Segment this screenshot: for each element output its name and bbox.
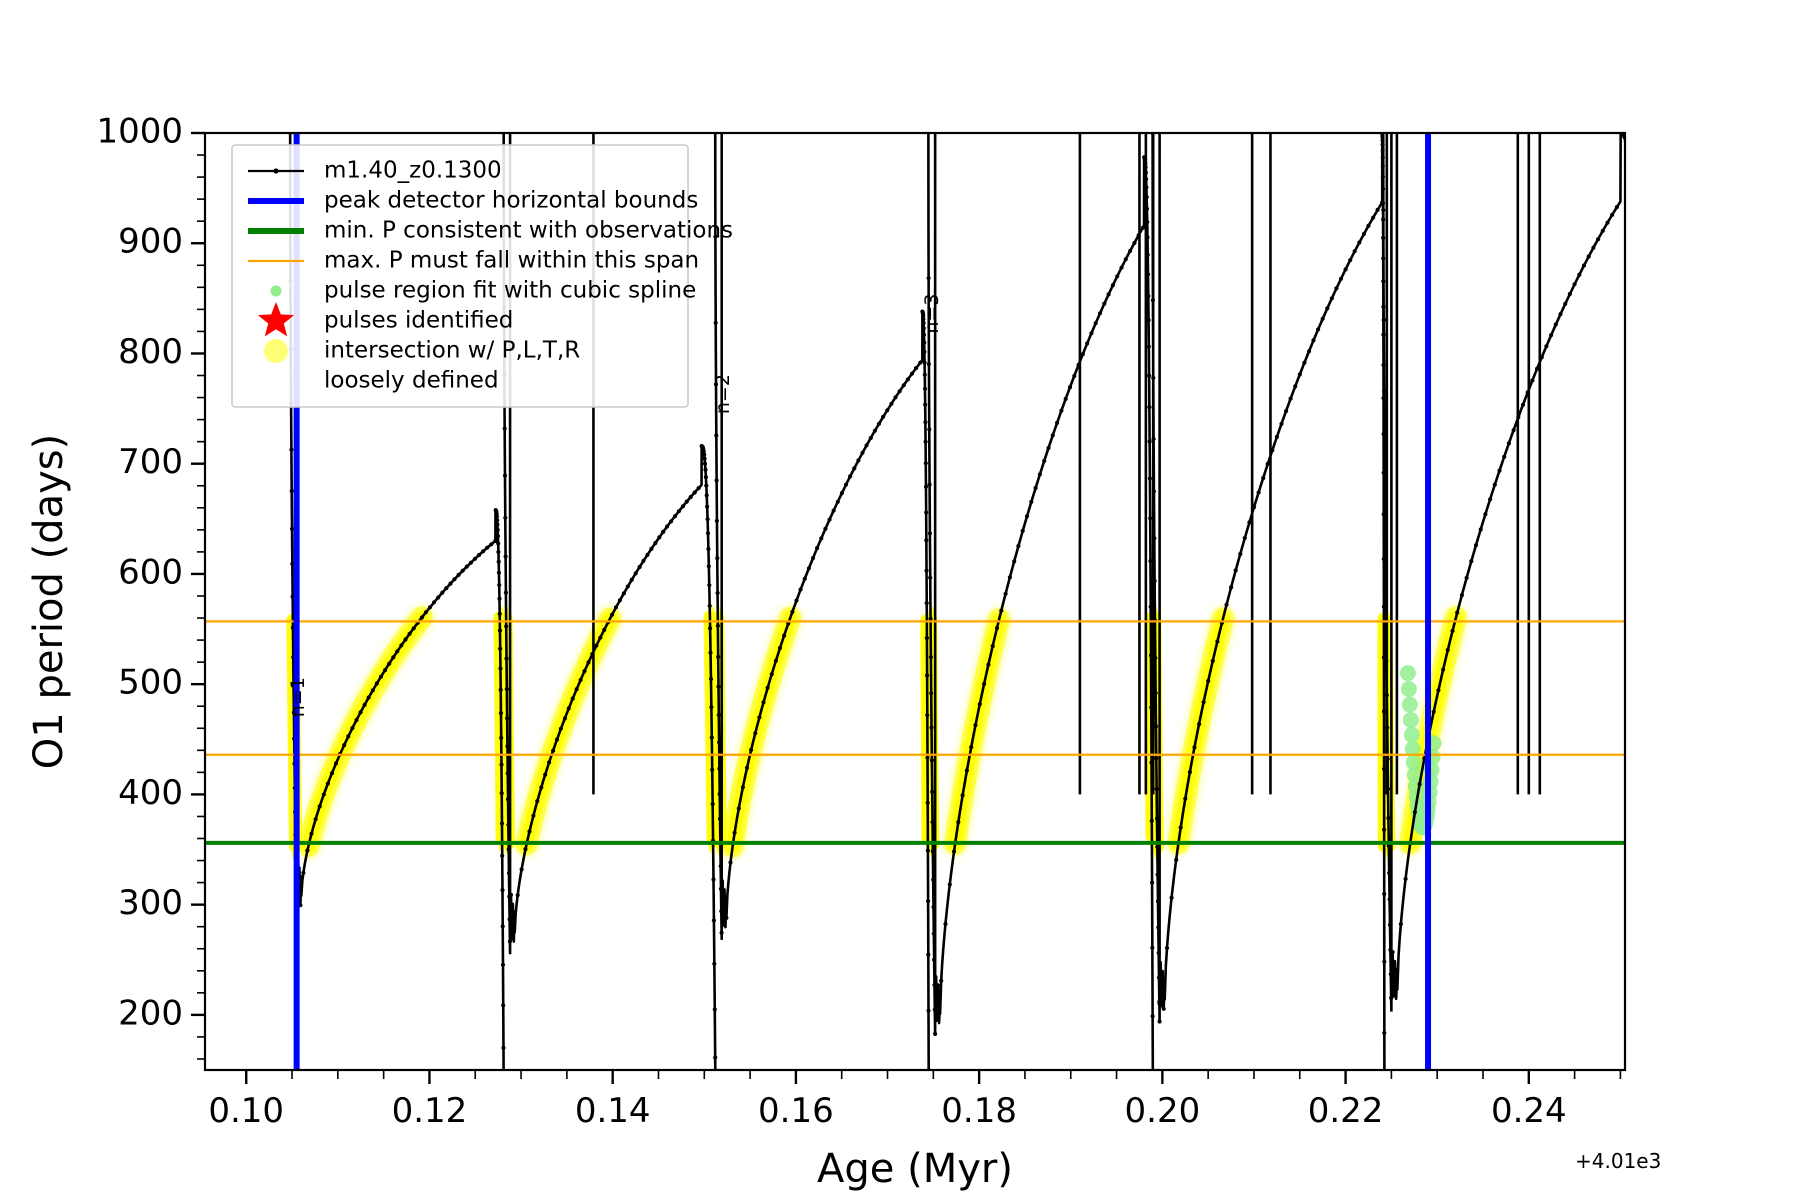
x-axis-label: Age (Myr) (817, 1146, 1013, 1192)
legend-label[interactable]: max. P must fall within this span (324, 248, 699, 274)
y-axis-label: O1 period (days) (26, 434, 72, 769)
y-tick-label: 900 (118, 222, 183, 262)
y-tick-label: 300 (118, 883, 183, 923)
legend-label[interactable]: min. P consistent with observations (324, 218, 733, 244)
legend-label[interactable]: pulses identified (324, 308, 513, 334)
y-tick-label: 400 (118, 773, 183, 813)
y-tick-label: 800 (118, 332, 183, 372)
x-axis-offset-text: +4.01e3 (1575, 1149, 1661, 1173)
spline-fit-dot (1401, 681, 1417, 697)
y-tick-label: 500 (118, 663, 183, 703)
spline-fit-dot (1403, 712, 1419, 728)
pulse-annotation-n2: n=2 (712, 374, 734, 414)
legend-label[interactable]: intersection w/ P,L,T,R (324, 338, 580, 364)
y-tick-label: 1000 (96, 112, 183, 152)
pulse-annotation-n3: n=3 (921, 294, 943, 334)
x-tick-label: 0.20 (1125, 1091, 1201, 1131)
legend-label[interactable]: pulse region fit with cubic spline (324, 278, 696, 304)
x-tick-label: 0.18 (941, 1091, 1017, 1131)
y-tick-label: 700 (118, 442, 183, 482)
legend-icon-small-dot (271, 286, 282, 297)
legend-label-line2[interactable]: loosely defined (324, 368, 499, 394)
x-tick-label: 0.12 (392, 1091, 468, 1131)
x-tick-label: 0.16 (758, 1091, 834, 1131)
y-tick-label: 200 (118, 993, 183, 1033)
spline-fit-dot (1400, 665, 1416, 681)
legend-icon-point (273, 168, 278, 173)
legend-label[interactable]: m1.40_z0.1300 (324, 158, 502, 184)
x-tick-label: 0.14 (575, 1091, 651, 1131)
legend[interactable]: m1.40_z0.1300peak detector horizontal bo… (232, 145, 733, 407)
legend-label[interactable]: peak detector horizontal bounds (324, 188, 698, 214)
x-tick-label: 0.10 (208, 1091, 284, 1131)
pulse-annotation-n1: n=1 (287, 677, 309, 717)
figure-canvas: n=1n=2n=3 20030040050060070080090010000.… (0, 0, 1800, 1200)
spline-fit-dot (1404, 727, 1420, 743)
x-tick-label: 0.24 (1491, 1091, 1567, 1131)
y-tick-label: 600 (118, 552, 183, 592)
scatter-line-plot: n=1n=2n=3 20030040050060070080090010000.… (0, 0, 1800, 1200)
spline-fit-dot (1402, 697, 1418, 713)
legend-icon-big-dot (264, 339, 288, 363)
x-tick-label: 0.22 (1308, 1091, 1384, 1131)
